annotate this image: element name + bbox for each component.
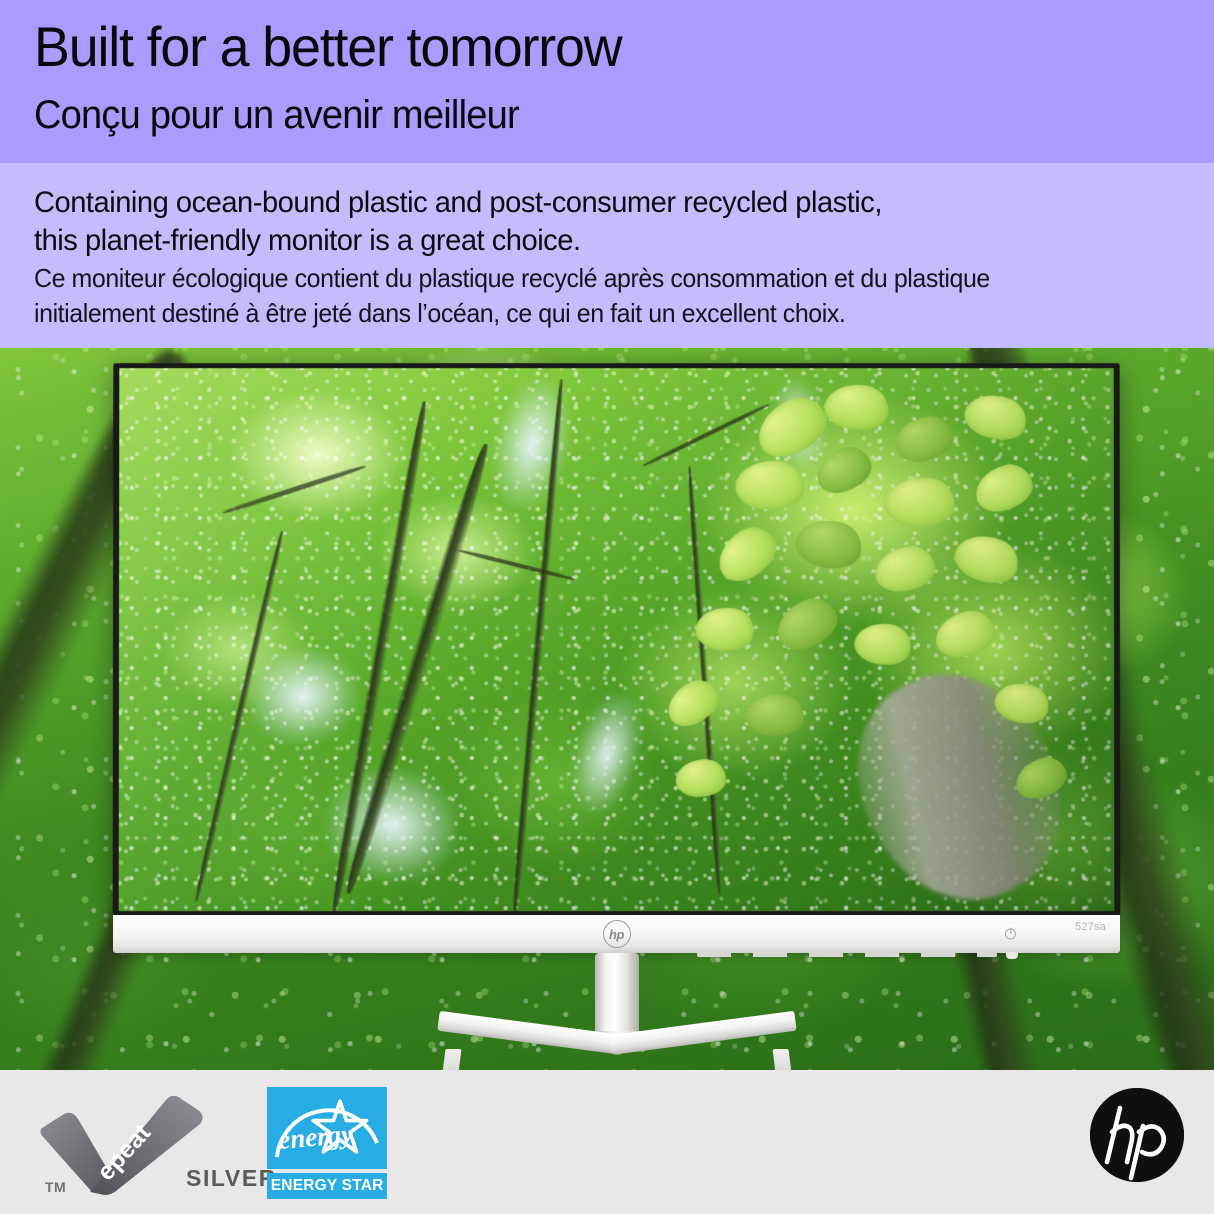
hero-forest-photo: hp 527sa (0, 348, 1214, 1070)
epeat-badge: epeat TM SILVER (34, 1086, 254, 1198)
hp-logo-icon (1090, 1088, 1184, 1182)
power-icon[interactable] (1005, 929, 1016, 940)
bezel-control-nub[interactable] (1006, 952, 1018, 959)
sky-gap (242, 643, 364, 749)
header-description-band: Containing ocean-bound plastic and post-… (0, 163, 1214, 348)
epeat-trademark: TM (45, 1179, 66, 1195)
bezel-vent-slots (697, 952, 997, 957)
monitor-screen (119, 368, 1115, 911)
monitor-product: hp 527sa (113, 363, 1120, 915)
stand-foot-right (772, 1049, 793, 1070)
monitor-stand-neck (595, 953, 639, 1041)
energy-star-emblem: energy (267, 1087, 387, 1169)
stand-foot-left (440, 1049, 461, 1070)
hp-bezel-logo: hp (603, 920, 631, 948)
energy-star-wordmark: ENERGY STAR (271, 1177, 384, 1195)
page-title-french: Conçu pour un avenir meilleur (34, 92, 519, 138)
monitor-bezel (113, 363, 1121, 915)
hp-logo (1090, 1088, 1184, 1182)
marketing-card: Built for a better tomorrow Conçu pour u… (0, 0, 1214, 1214)
description-english: Containing ocean-bound plastic and post-… (34, 184, 882, 260)
description-french: Ce moniteur écologique contient du plast… (34, 261, 990, 331)
monitor-stand-base (441, 1035, 793, 1070)
energy-star-badge: energy ENERGY STAR (267, 1087, 387, 1199)
page-title: Built for a better tomorrow (34, 16, 621, 78)
monitor-chin-bezel: hp 527sa (113, 915, 1120, 953)
energy-star-wordmark-bar: ENERGY STAR (267, 1173, 387, 1199)
header-headline-band: Built for a better tomorrow Conçu pour u… (0, 0, 1214, 163)
monitor-model-label: 527sa (1075, 921, 1106, 933)
energy-star-icon: energy (267, 1087, 387, 1169)
svg-text:energy: energy (277, 1118, 355, 1155)
footer-certifications: epeat TM SILVER energy ENERGY STAR (0, 1070, 1214, 1214)
epeat-tier-label: SILVER (186, 1165, 277, 1192)
